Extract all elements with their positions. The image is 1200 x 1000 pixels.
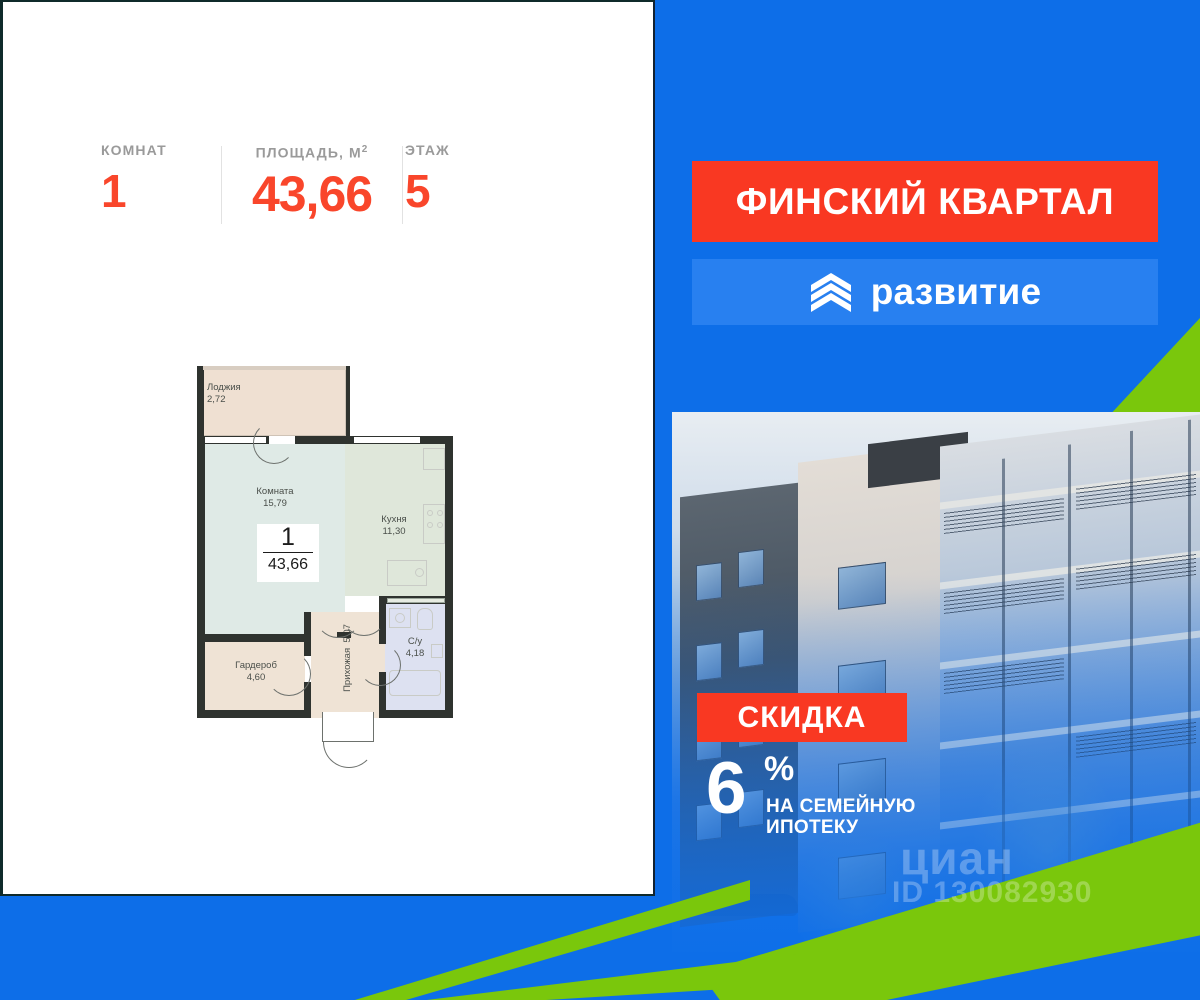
discount-subtitle: НА СЕМЕЙНУЮ ИПОТЕКУ [766,796,916,838]
wall-exterior-left [197,436,205,718]
stove-burner [427,510,433,516]
stove-burner [437,510,443,516]
apartment-stats: КОМНАТ 1 ПЛОЩАДЬ, М2 43,66 ЭТАЖ 5 [3,142,603,242]
stat-rooms-value: 1 [101,165,127,217]
bathroom-sink [431,644,443,658]
plan-badge-area: 43,66 [257,555,319,574]
window-kitchen [353,436,421,444]
discount-subtitle-line2: ИПОТЕКУ [766,817,916,838]
room-loggia-label: Лоджия2,72 [207,382,317,406]
wall-wardrobe-top [205,634,311,642]
kitchen-upper-cabinet [423,448,445,470]
door-arc-loggia [253,422,295,464]
plan-badge-rooms: 1 [257,524,319,551]
discount-headline-badge: СКИДКА [697,693,907,742]
stat-area-label: ПЛОЩАДЬ, М2 [256,142,369,161]
door-arc-bathroom [359,644,401,686]
stove-burner [437,522,443,528]
developer-name-text: развитие [871,271,1042,313]
triple-chevron-icon [809,271,853,313]
stat-area: ПЛОЩАДЬ, М2 43,66 [222,142,402,220]
door-arc-wardrobe [267,652,311,696]
floorplan-card: КОМНАТ 1 ПЛОЩАДЬ, М2 43,66 ЭТАЖ 5 Лоджия… [0,0,655,896]
kitchen-sink-basin [415,568,424,577]
plan-summary-badge: 1 43,66 [257,524,319,582]
stat-floor-label: ЭТАЖ [405,142,450,158]
toilet [417,608,433,630]
bathroom-door-threshold [387,598,445,603]
square-superscript: 2 [362,144,369,155]
developer-logo-block: развитие [692,259,1158,325]
listing-card-image: ФИНСКИЙ КВАРТАЛ развитие СКИДКА 6 % НА С… [0,0,1200,1000]
stat-divider [402,146,403,224]
washing-machine-drum [395,613,405,623]
stat-floor-value: 5 [405,165,431,217]
watermark-id: ID 130082930 [892,878,1093,908]
entrance-door-leaf [322,712,374,742]
stove-burner [427,522,433,528]
room-bedroom-label: Комната15,79 [225,486,325,510]
floor-plan-drawing: Лоджия2,72 Комната15,79 Кухня11,30 [191,364,461,759]
discount-number: 6 [706,752,747,825]
discount-subtitle-line1: НА СЕМЕЙНУЮ [766,796,916,817]
wall-exterior-top-mid [295,436,353,444]
discount-headline-text: СКИДКА [738,701,867,735]
wall-loggia-right [346,366,350,438]
stat-floor: ЭТАЖ 5 [405,142,515,217]
wall-exterior-right [445,436,453,718]
stat-rooms: КОМНАТ 1 [101,142,221,217]
wall-loggia-left [197,366,204,438]
complex-name-text: ФИНСКИЙ КВАРТАЛ [736,181,1114,223]
discount-percent-sign: % [764,752,794,786]
plan-badge-divider [263,552,313,553]
watermark-brand: циан [900,836,1014,880]
stat-rooms-label: КОМНАТ [101,142,167,158]
stat-area-value: 43,66 [252,168,372,220]
wall-loggia-top [203,366,347,370]
complex-name-badge: ФИНСКИЙ КВАРТАЛ [692,161,1158,242]
door-arc-kitchen [341,590,387,636]
